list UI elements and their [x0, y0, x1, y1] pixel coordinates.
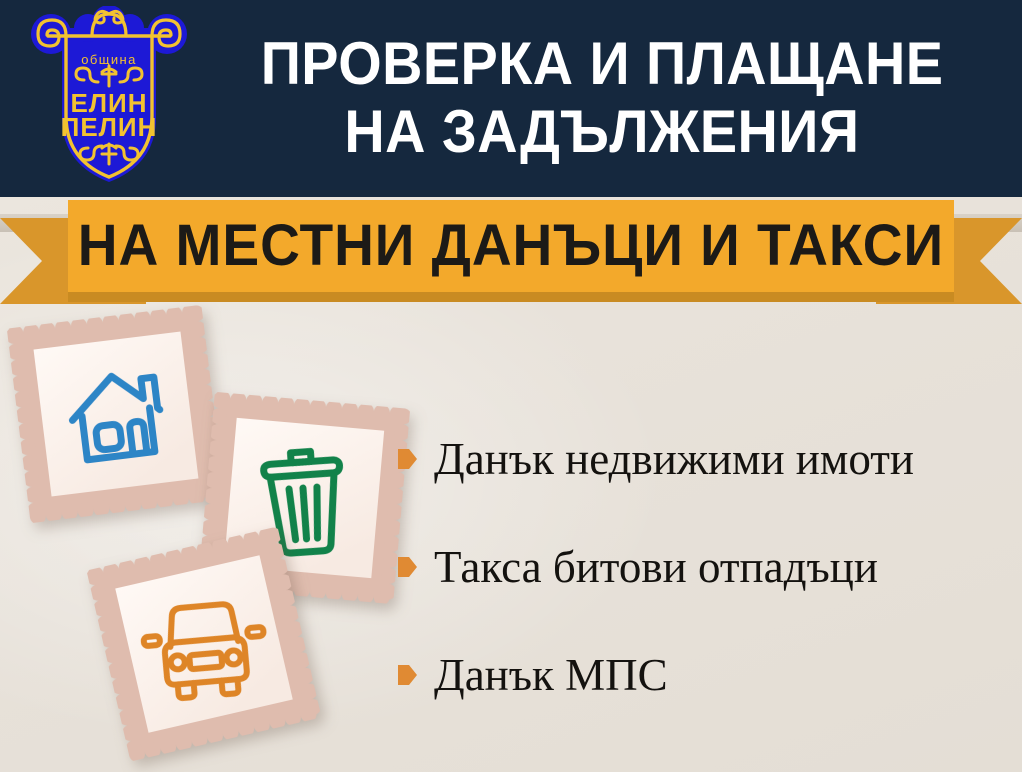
elin-pelin-coat-of-arms-icon: община ЕЛИН ПЕЛИН — [26, 6, 192, 186]
ribbon-text: НА МЕСТНИ ДАНЪЦИ И ТАКСИ — [78, 216, 944, 276]
list-item[interactable]: Данък недвижими имоти — [398, 432, 1012, 486]
ribbon-banner: НА МЕСТНИ ДАНЪЦИ И ТАКСИ — [68, 200, 954, 292]
stamp-card-house — [7, 305, 225, 523]
list-item-label: Данък МПС — [434, 648, 668, 702]
title-line-1: ПРОВЕРКА И ПЛАЩАНЕ — [261, 30, 944, 98]
pentagon-arrow-bullet-icon — [398, 556, 417, 578]
pentagon-arrow-bullet-icon — [398, 664, 417, 686]
pentagon-arrow-bullet-icon — [398, 448, 417, 470]
subtitle-ribbon: НА МЕСТНИ ДАНЪЦИ И ТАКСИ — [0, 200, 1022, 308]
title-line-2: НА ЗАДЪЛЖЕНИЯ — [344, 98, 859, 166]
tax-types-list: Данък недвижими имоти Такса битови отпад… — [398, 432, 1012, 702]
crest-name-line-2: ПЕЛИН — [61, 112, 158, 142]
list-item[interactable]: Данък МПС — [398, 648, 1012, 702]
list-item-label: Такса битови отпадъци — [434, 540, 878, 594]
poster-canvas: община ЕЛИН ПЕЛИН ПР — [0, 0, 1022, 772]
list-item[interactable]: Такса битови отпадъци — [398, 540, 1012, 594]
poster-title: ПРОВЕРКА И ПЛАЩАНЕ НА ЗАДЪЛЖЕНИЯ — [196, 18, 1008, 178]
list-item-label: Данък недвижими имоти — [434, 432, 914, 486]
